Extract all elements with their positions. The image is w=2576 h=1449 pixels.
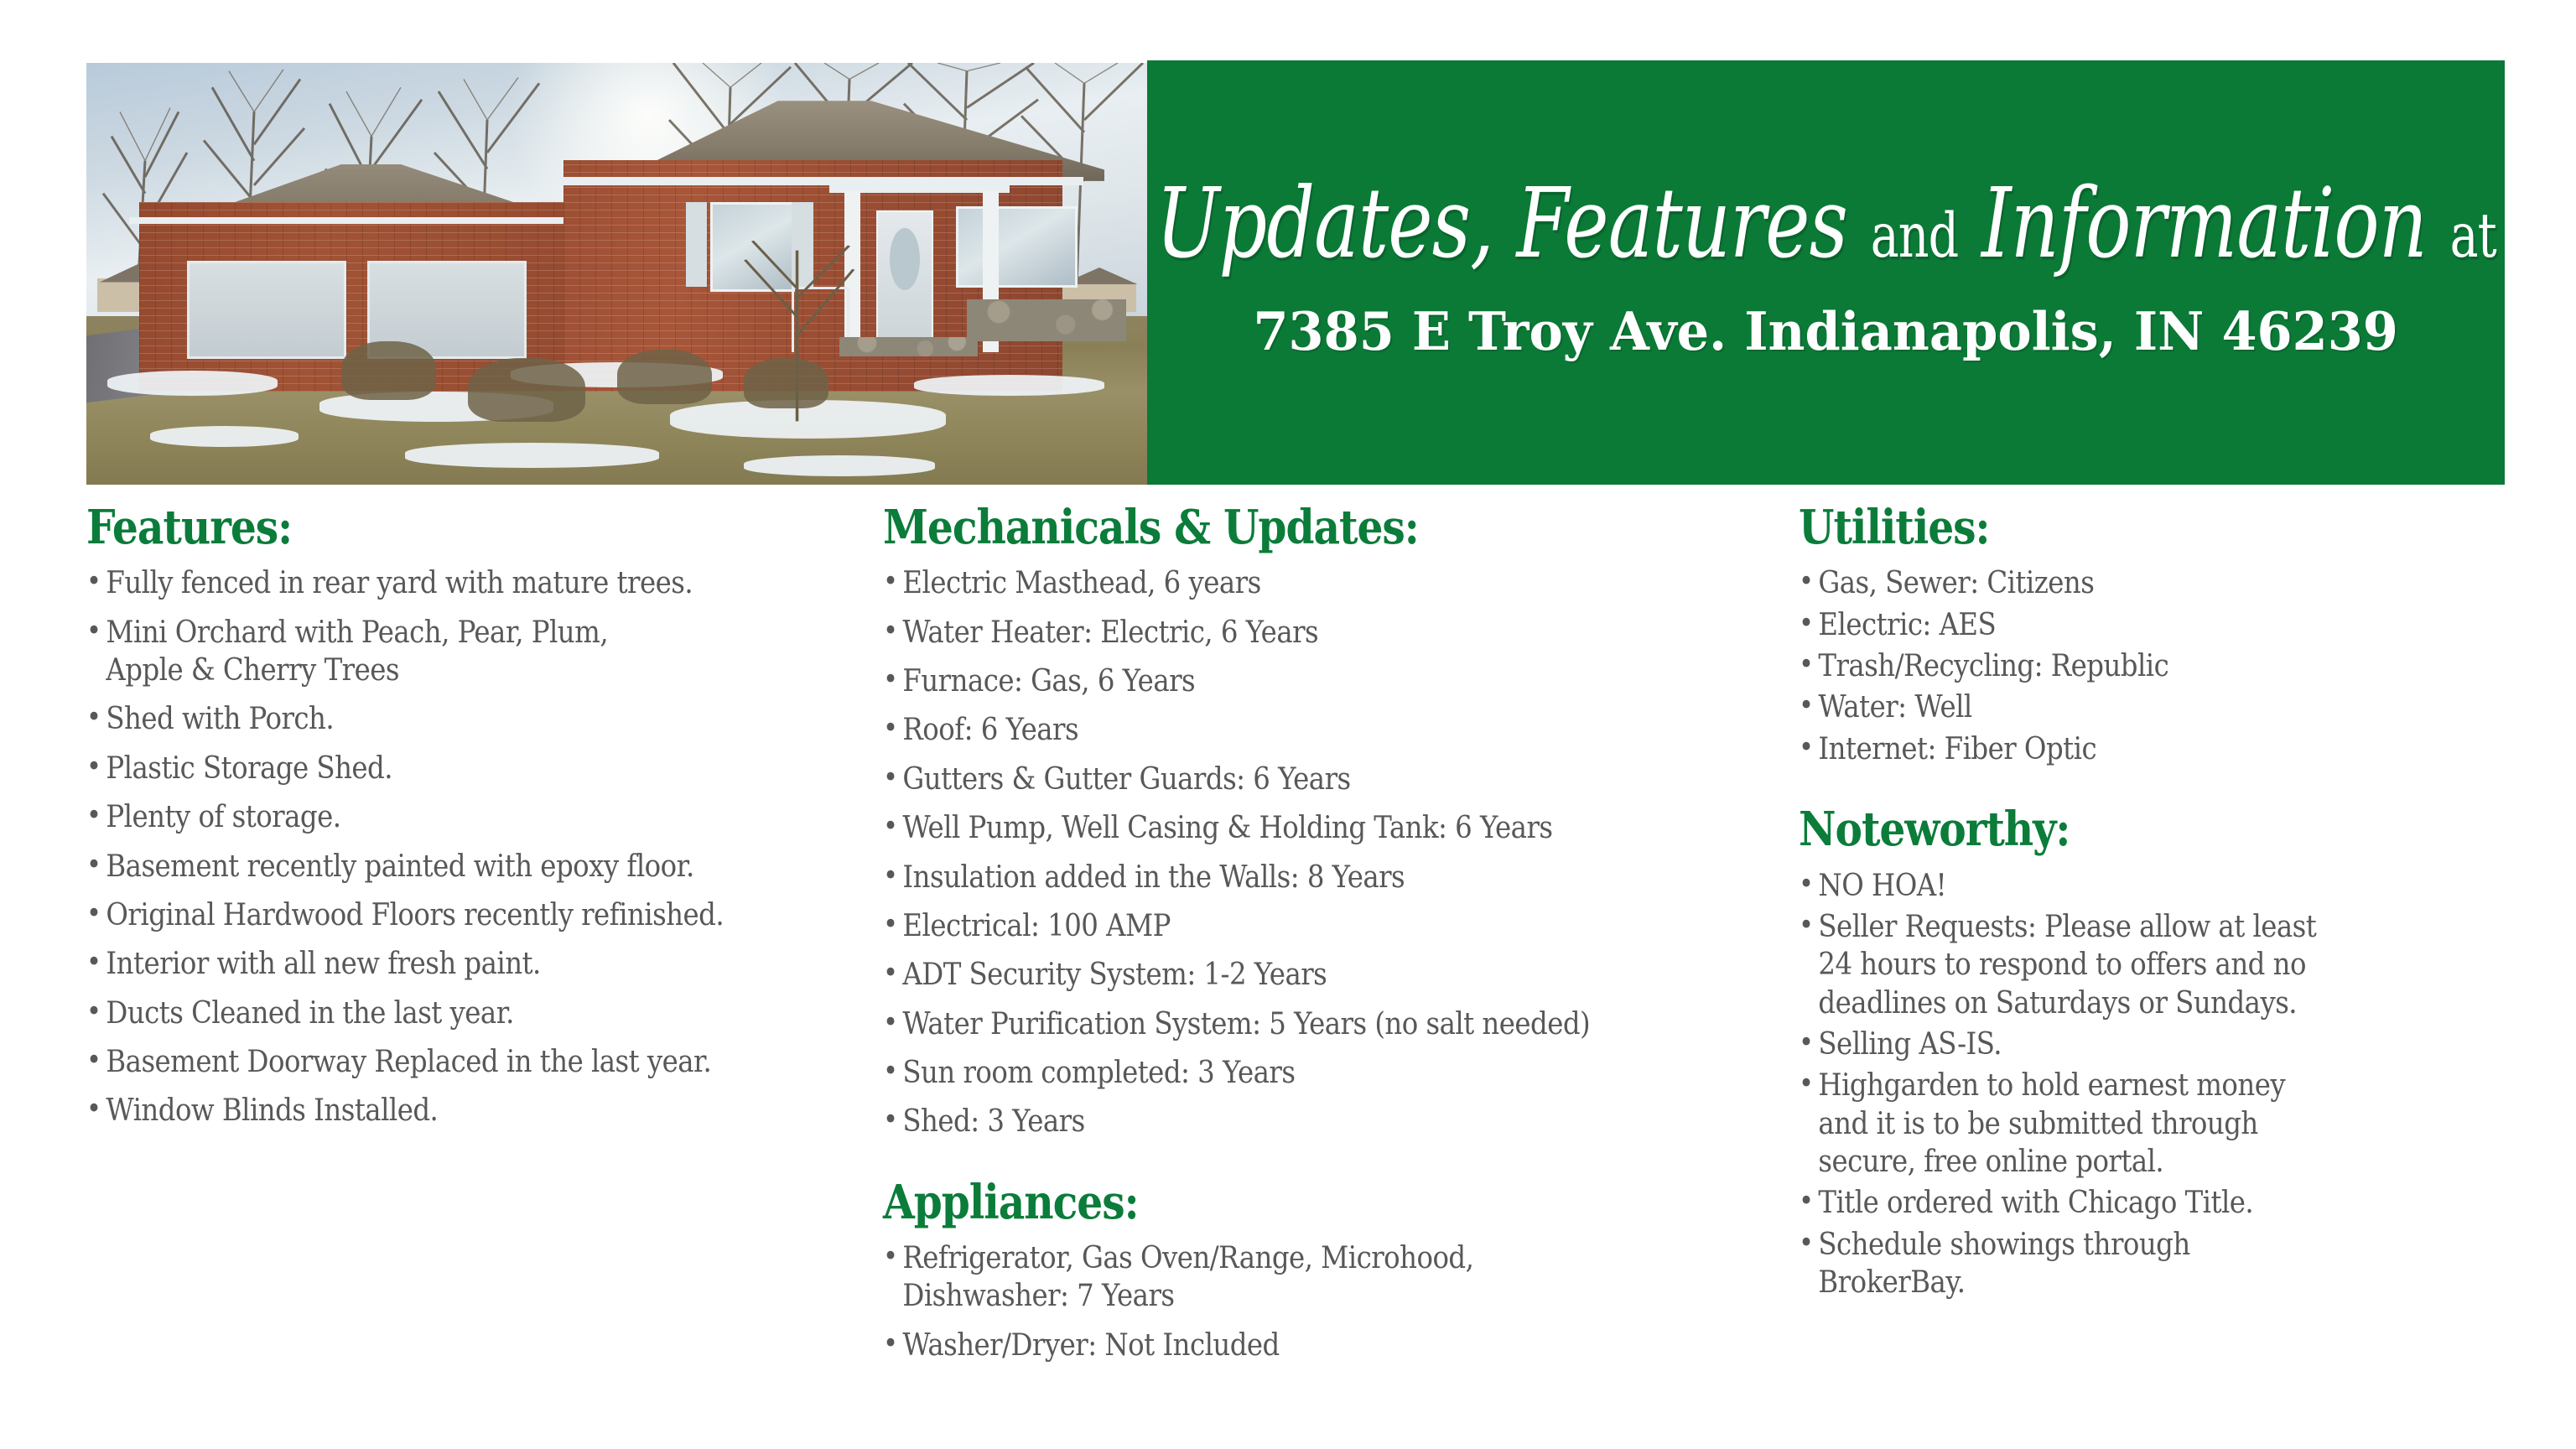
banner-title-at: at [2450, 204, 2496, 267]
list-item: Trash/Recycling: Republic [1799, 647, 2448, 685]
property-photo [86, 63, 1147, 485]
bullet-list: Fully fenced in rear yard with mature tr… [86, 564, 841, 1130]
list-item: Washer/Dryer: Not Included [883, 1327, 1683, 1364]
list-item: Insulation added in the Walls: 8 Years [883, 859, 1683, 896]
garage-door-left [187, 261, 345, 359]
main-eave [553, 177, 1084, 185]
list-item: Gutters & Gutter Guards: 6 Years [883, 761, 1683, 798]
list-item: Shed: 3 Years [883, 1103, 1683, 1140]
flyer-header: Updates, Features and Information at 738… [0, 60, 2576, 485]
list-item: Gas, Sewer: Citizens [1799, 564, 2448, 602]
bare-sapling-icon [723, 231, 871, 421]
list-item: Plenty of storage. [86, 798, 766, 836]
list-item: Schedule showings through BrokerBay. [1799, 1226, 2448, 1302]
list-item: NO HOA! [1799, 867, 2448, 905]
column-middle: Mechanicals & Updates:Electric Masthead,… [883, 503, 1772, 1375]
list-item: Shed with Porch. [86, 700, 766, 738]
snow-patch [107, 371, 277, 396]
snow-patch [405, 443, 660, 468]
list-item: Sun room completed: 3 Years [883, 1054, 1683, 1092]
banner-title: Updates, Features and Information at [1156, 175, 2495, 274]
section-heading-mechanicals-updates: Mechanicals & Updates: [883, 503, 1656, 553]
bullet-list: Electric Masthead, 6 yearsWater Heater: … [883, 564, 1772, 1140]
list-item: Well Pump, Well Casing & Holding Tank: 6… [883, 809, 1683, 847]
list-item: Water Purification System: 5 Years (no s… [883, 1005, 1683, 1043]
list-item: Electric Masthead, 6 years [883, 564, 1683, 602]
bullet-list: NO HOA!Seller Requests: Please allow at … [1799, 867, 2520, 1302]
list-item: Basement Doorway Replaced in the last ye… [86, 1043, 766, 1081]
stone-porch-base [967, 299, 1126, 341]
section-heading-utilities: Utilities: [1799, 503, 2426, 553]
list-item: Selling AS-IS. [1799, 1026, 2448, 1063]
banner-title-script-2: Information [1981, 168, 2427, 281]
snow-patch [744, 455, 935, 476]
list-item: Basement recently painted with epoxy flo… [86, 848, 766, 885]
list-item: Electrical: 100 AMP [883, 907, 1683, 945]
list-item: Ducts Cleaned in the last year. [86, 995, 766, 1032]
header-banner: Updates, Features and Information at 738… [1147, 60, 2505, 485]
bullet-list: Refrigerator, Gas Oven/Range, Microhood,… [883, 1239, 1772, 1364]
list-item: Original Hardwood Floors recently refini… [86, 896, 766, 934]
list-item: Furnace: Gas, 6 Years [883, 662, 1683, 700]
column-right: Utilities:Gas, Sewer: CitizensElectric: … [1799, 503, 2520, 1305]
snow-patch [914, 375, 1105, 396]
list-item: Window Blinds Installed. [86, 1092, 766, 1130]
list-item: Mini Orchard with Peach, Pear, Plum, App… [86, 614, 766, 690]
list-item: Water Heater: Electric, 6 Years [883, 614, 1683, 652]
property-address: 7385 E Troy Ave. Indianapolis, IN 46239 [1254, 300, 2398, 362]
dormant-shrub [617, 350, 713, 404]
dormant-shrub [468, 358, 584, 421]
list-item: Roof: 6 Years [883, 711, 1683, 749]
section-heading-features: Features: [86, 503, 743, 553]
list-item: Plastic Storage Shed. [86, 750, 766, 787]
list-item: ADT Security System: 1-2 Years [883, 956, 1683, 994]
content-columns: Features:Fully fenced in rear yard with … [0, 503, 2576, 1449]
list-item: Interior with all new fresh paint. [86, 945, 766, 983]
door-oval-glass [890, 228, 919, 290]
front-door [876, 210, 932, 349]
picture-window [956, 206, 1078, 288]
list-item: Water: Well [1799, 688, 2448, 726]
section-heading-noteworthy: Noteworthy: [1799, 805, 2426, 854]
list-item: Fully fenced in rear yard with mature tr… [86, 564, 766, 602]
bullet-list: Gas, Sewer: CitizensElectric: AESTrash/R… [1799, 564, 2520, 768]
list-item: Refrigerator, Gas Oven/Range, Microhood,… [883, 1239, 1683, 1316]
banner-title-script-1: Updates, Features [1156, 168, 1846, 281]
snow-patch [150, 426, 299, 447]
column-left: Features:Fully fenced in rear yard with … [86, 503, 841, 1141]
list-item: Seller Requests: Please allow at least 2… [1799, 908, 2448, 1022]
list-item: Highgarden to hold earnest money and it … [1799, 1067, 2448, 1181]
section-heading-appliances: Appliances: [883, 1178, 1656, 1228]
list-item: Title ordered with Chicago Title. [1799, 1184, 2448, 1222]
banner-title-and: and [1871, 204, 1959, 267]
list-item: Electric: AES [1799, 606, 2448, 644]
dormant-shrub [341, 341, 437, 400]
list-item: Internet: Fiber Optic [1799, 730, 2448, 768]
garage-eave [129, 217, 596, 224]
shutter-left [686, 202, 707, 287]
